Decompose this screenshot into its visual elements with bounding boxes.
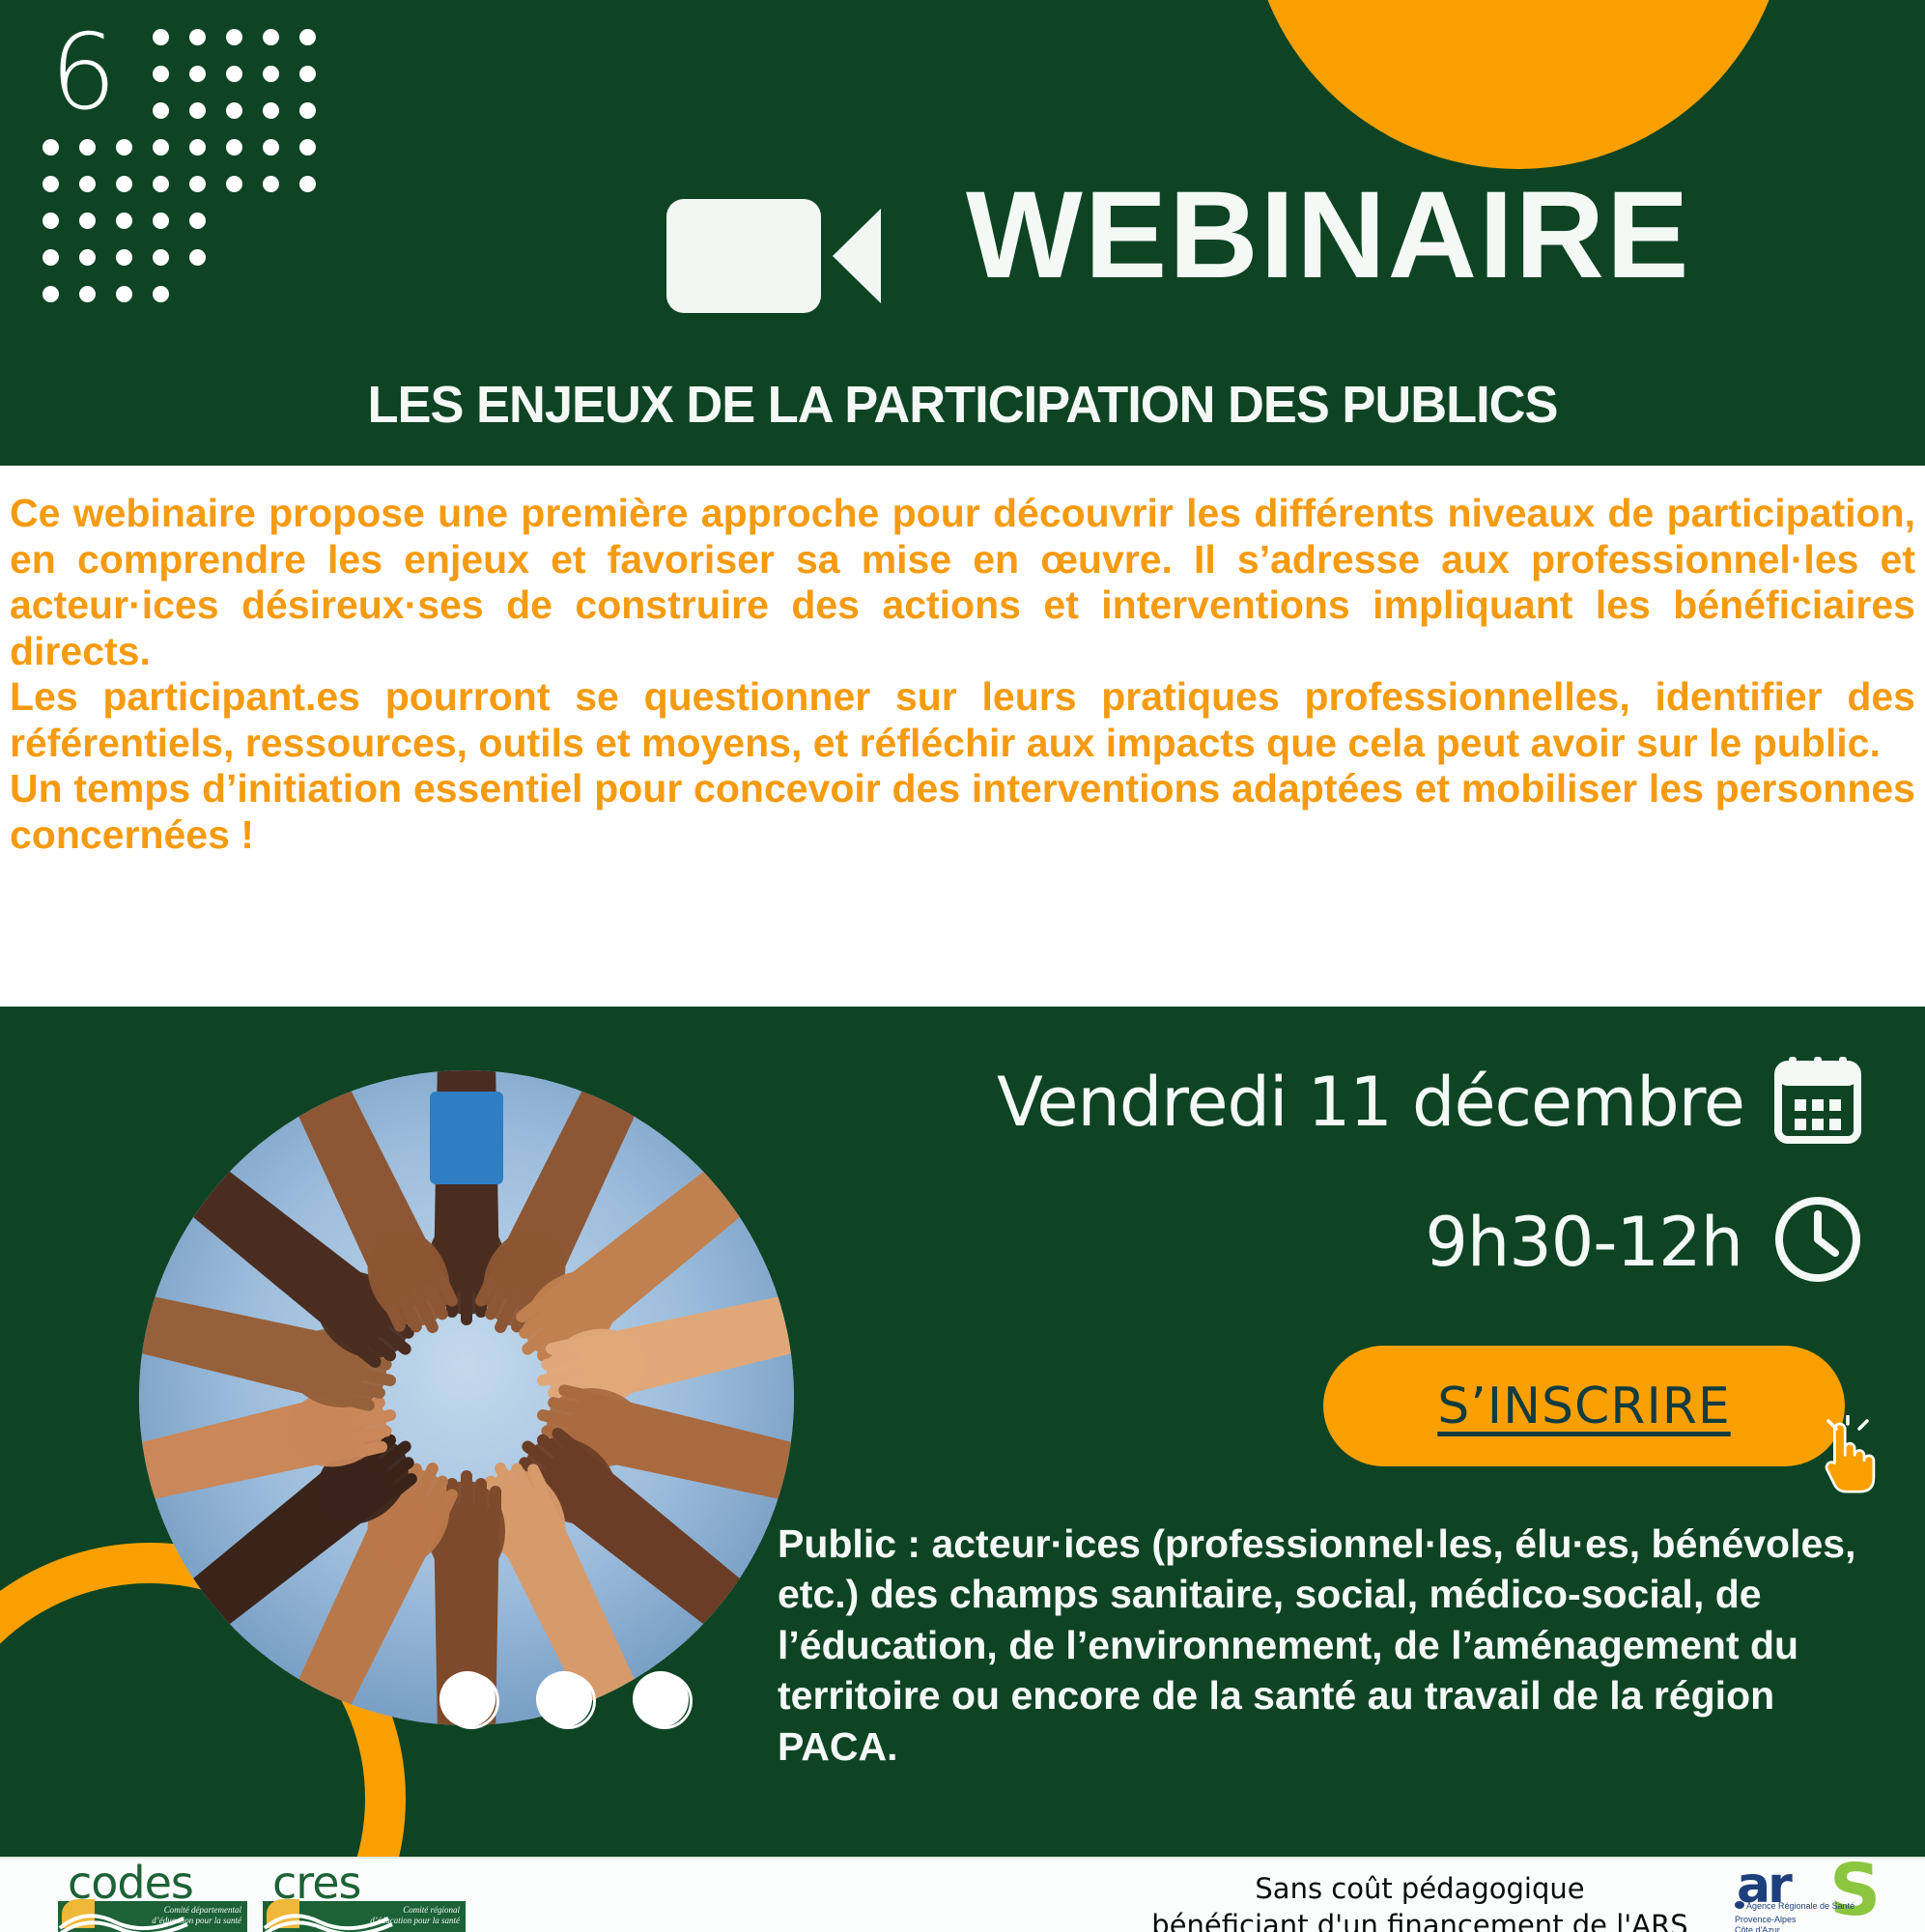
page-title: WEBINAIRE	[966, 174, 1690, 298]
ars-logo-s: S	[1829, 1855, 1881, 1926]
decoration-dot	[299, 176, 316, 192]
cres-logo: cres Comité régional d’éducation pour la…	[263, 1864, 470, 1932]
dot-pattern-decoration	[42, 29, 361, 319]
cres-logo-word: cres	[272, 1864, 360, 1902]
decoration-dot	[189, 139, 206, 156]
decoration-dot	[116, 286, 132, 302]
ars-bullet-icon	[1735, 1901, 1744, 1909]
clock-icon	[1771, 1193, 1864, 1291]
decoration-dot	[42, 176, 59, 192]
decoration-dot	[189, 176, 206, 192]
decoration-dot	[42, 286, 59, 302]
decoration-dot	[226, 102, 242, 119]
decoration-dot	[116, 139, 132, 156]
decoration-dot	[153, 249, 169, 266]
register-button[interactable]: S’INSCRIRE	[1323, 1346, 1845, 1466]
decoration-dot	[226, 66, 242, 82]
poster-footer: codes Comité départemental d’éducation p…	[0, 1857, 1925, 1932]
decoration-dot	[189, 29, 206, 45]
hands-circle-image	[139, 1070, 794, 1725]
decoration-dot	[153, 213, 169, 229]
register-button-label: S’INSCRIRE	[1437, 1378, 1731, 1435]
description-paragraph-1: Ce webinaire propose une première approc…	[10, 491, 1915, 674]
decoration-dot	[299, 29, 316, 45]
orange-accent-circle	[1248, 0, 1789, 169]
page-subtitle: LES ENJEUX DE LA PARTICIPATION DES PUBLI…	[29, 375, 1896, 435]
codes-logo: codes Comité départemental d’éducation p…	[58, 1864, 251, 1932]
decoration-dot	[153, 286, 169, 302]
decoration-dot	[153, 102, 169, 119]
decoration-dot	[153, 29, 169, 45]
decoration-dot	[79, 139, 96, 156]
decoration-dot	[299, 139, 316, 156]
funding-note: Sans coût pédagogique bénéficiant d'un f…	[1140, 1870, 1700, 1932]
ars-region: Provence-AlpesCôte d'Azur	[1735, 1915, 1797, 1932]
decoration-dot	[79, 176, 96, 192]
deco-circle-1	[439, 1671, 499, 1731]
decoration-dot	[263, 139, 279, 156]
decoration-dot	[189, 213, 206, 229]
event-date-row: Vendredi 11 décembre	[956, 1053, 1864, 1151]
decoration-dot	[42, 139, 59, 156]
codes-logo-word: codes	[68, 1864, 193, 1902]
decoration-dot	[116, 176, 132, 192]
poster-header: 6 WEBINAIRE LES ENJEUX DE LA PARTICIPATI…	[0, 0, 1925, 466]
decoration-dot	[153, 176, 169, 192]
video-camera-icon	[666, 199, 884, 313]
decoration-dot	[263, 176, 279, 192]
decoration-dot	[189, 249, 206, 266]
calendar-icon	[1771, 1053, 1864, 1151]
deco-circle-3	[633, 1671, 693, 1731]
ars-subtitle: Agence Régionale de Santé	[1746, 1901, 1854, 1911]
decoration-dot	[263, 102, 279, 119]
decoration-dot	[299, 102, 316, 119]
webinar-poster: 6 WEBINAIRE LES ENJEUX DE LA PARTICIPATI…	[0, 0, 1925, 1932]
decoration-dot	[42, 213, 59, 229]
register-area: S’INSCRIRE	[1323, 1346, 1845, 1466]
decoration-dot	[153, 66, 169, 82]
decoration-dot	[299, 66, 316, 82]
description-section: Ce webinaire propose une première approc…	[0, 466, 1925, 1007]
decoration-dot	[79, 213, 96, 229]
description-paragraph-2: Les participant.es pourront se questionn…	[10, 674, 1915, 766]
decoration-dot	[226, 176, 242, 192]
decoration-dot	[116, 213, 132, 229]
event-time: 9h30-12h	[1425, 1203, 1742, 1282]
ars-logo: ar S Agence Régionale de Santé Provence-…	[1729, 1864, 1903, 1932]
decoration-dot	[263, 66, 279, 82]
decoration-dot	[79, 286, 96, 302]
codes-caption-1: Comité départemental	[164, 1905, 241, 1915]
audience-description: Public : acteur·ices (professionnel·les,…	[778, 1519, 1869, 1772]
funding-line-1: Sans coût pédagogique	[1255, 1872, 1584, 1905]
deco-circle-2	[536, 1671, 596, 1731]
decoration-dot	[189, 102, 206, 119]
codes-caption-2: d’éducation pour la santé	[152, 1916, 241, 1925]
decoration-dot	[263, 29, 279, 45]
description-paragraph-3: Un temps d’initiation essentiel pour con…	[10, 766, 1915, 858]
decoration-dot	[153, 139, 169, 156]
decoration-dot	[42, 249, 59, 266]
dot-indicators	[439, 1671, 693, 1731]
decoration-dot	[226, 29, 242, 45]
decoration-dot	[226, 139, 242, 156]
decoration-dot	[116, 249, 132, 266]
event-time-row: 9h30-12h	[956, 1193, 1864, 1291]
cres-caption-1: Comité régional	[403, 1905, 460, 1915]
event-date: Vendredi 11 décembre	[997, 1063, 1744, 1142]
cres-caption-2: d’éducation pour la santé	[370, 1916, 460, 1925]
funding-line-2: bénéficiant d'un financement de l'ARS PA…	[1151, 1909, 1687, 1932]
decoration-dot	[189, 66, 206, 82]
pointing-hand-cursor-icon	[1811, 1415, 1888, 1507]
decoration-dot	[79, 249, 96, 266]
